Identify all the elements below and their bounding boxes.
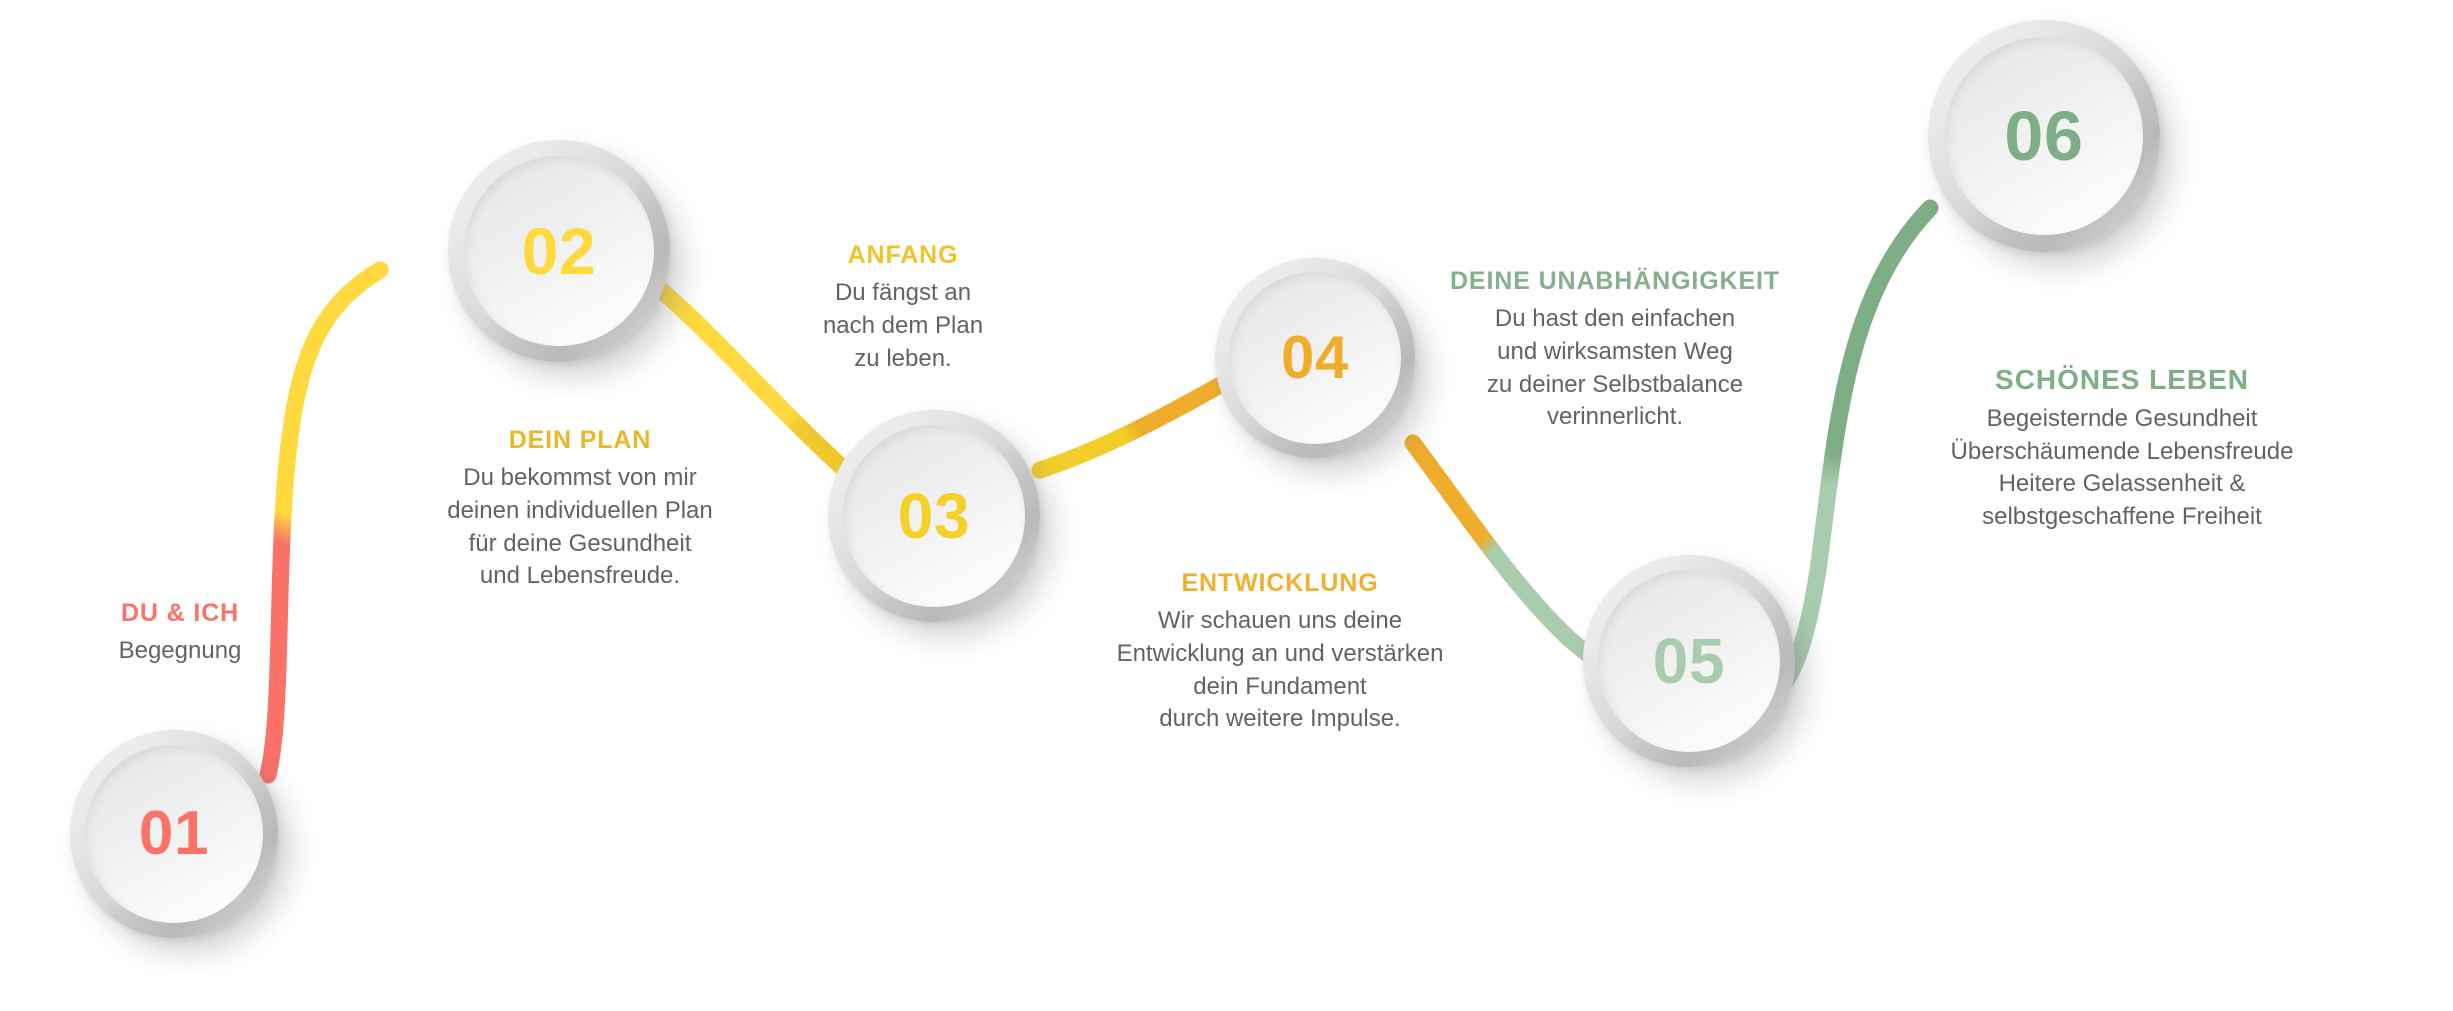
step-body-06: Begeisternde Gesundheit Überschäumende L…: [1862, 403, 2382, 534]
body-line: Du bekommst von mir: [378, 462, 782, 495]
step-node-06-face: 06: [1945, 37, 2144, 236]
body-line: Du fängst an: [765, 277, 1041, 310]
step-number-02: 02: [522, 218, 597, 284]
body-line: Wir schauen uns deine: [1055, 605, 1505, 638]
step-label-01: DU & ICH Begegnung: [20, 598, 340, 668]
step-node-04[interactable]: 04: [1215, 258, 1415, 458]
step-title-04: ENTWICKLUNG: [1055, 568, 1505, 599]
body-line: durch weitere Impulse.: [1055, 703, 1505, 736]
body-line: selbstgeschaffene Freiheit: [1862, 501, 2382, 534]
step-node-06[interactable]: 06: [1928, 20, 2160, 252]
step-title-06: SCHÖNES LEBEN: [1862, 362, 2382, 397]
step-title-01: DU & ICH: [20, 598, 340, 629]
step-label-03: ANFANG Du fängst an nach dem Plan zu leb…: [765, 240, 1041, 375]
step-node-04-face: 04: [1229, 272, 1400, 443]
body-line: Heitere Gelassenheit &: [1862, 468, 2382, 501]
body-line: für deine Gesundheit: [378, 528, 782, 561]
body-line: Entwicklung an und verstärken: [1055, 638, 1505, 671]
step-label-05: DEINE UNABHÄNGIGKEIT Du hast den einfach…: [1390, 266, 1840, 434]
step-number-01: 01: [139, 803, 209, 865]
step-body-04: Wir schauen uns deine Entwicklung an und…: [1055, 605, 1505, 736]
step-body-05: Du hast den einfachen und wirksamsten We…: [1390, 303, 1840, 434]
body-line: und Lebensfreude.: [378, 560, 782, 593]
step-number-03: 03: [898, 484, 970, 548]
path-segment-01-02: [268, 270, 380, 775]
body-line: zu leben.: [765, 343, 1041, 376]
body-line: zu deiner Selbstbalance: [1390, 369, 1840, 402]
step-number-04: 04: [1281, 328, 1349, 388]
body-line: nach dem Plan: [765, 310, 1041, 343]
body-line: Begeisternde Gesundheit: [1862, 403, 2382, 436]
step-label-04: ENTWICKLUNG Wir schauen uns deine Entwic…: [1055, 568, 1505, 736]
step-node-01[interactable]: 01: [70, 730, 278, 938]
body-line: und wirksamsten Weg: [1390, 336, 1840, 369]
step-number-06: 06: [2004, 101, 2083, 171]
step-node-03[interactable]: 03: [828, 410, 1040, 622]
step-node-05-face: 05: [1598, 570, 1779, 751]
step-node-05[interactable]: 05: [1583, 555, 1795, 767]
infographic-canvas: 01 02 03 04 05 06 DU & ICH Begegnung: [0, 0, 2453, 1011]
body-line: deinen individuellen Plan: [378, 495, 782, 528]
body-line: dein Fundament: [1055, 671, 1505, 704]
step-body-01: Begegnung: [20, 635, 340, 668]
body-line: Überschäumende Lebensfreude: [1862, 436, 2382, 469]
step-node-02-face: 02: [464, 156, 654, 346]
step-label-02: DEIN PLAN Du bekommst von mir deinen ind…: [378, 425, 782, 593]
step-number-05: 05: [1653, 629, 1725, 693]
step-title-05: DEINE UNABHÄNGIGKEIT: [1390, 266, 1840, 297]
step-title-02: DEIN PLAN: [378, 425, 782, 456]
step-title-03: ANFANG: [765, 240, 1041, 271]
step-label-06: SCHÖNES LEBEN Begeisternde Gesundheit Üb…: [1862, 362, 2382, 534]
body-line: verinnerlicht.: [1390, 401, 1840, 434]
step-body-02: Du bekommst von mir deinen individuellen…: [378, 462, 782, 593]
step-node-01-face: 01: [85, 745, 263, 923]
body-line: Du hast den einfachen: [1390, 303, 1840, 336]
step-node-02[interactable]: 02: [448, 140, 670, 362]
step-body-03: Du fängst an nach dem Plan zu leben.: [765, 277, 1041, 375]
step-node-03-face: 03: [843, 425, 1024, 606]
body-line: Begegnung: [20, 635, 340, 668]
